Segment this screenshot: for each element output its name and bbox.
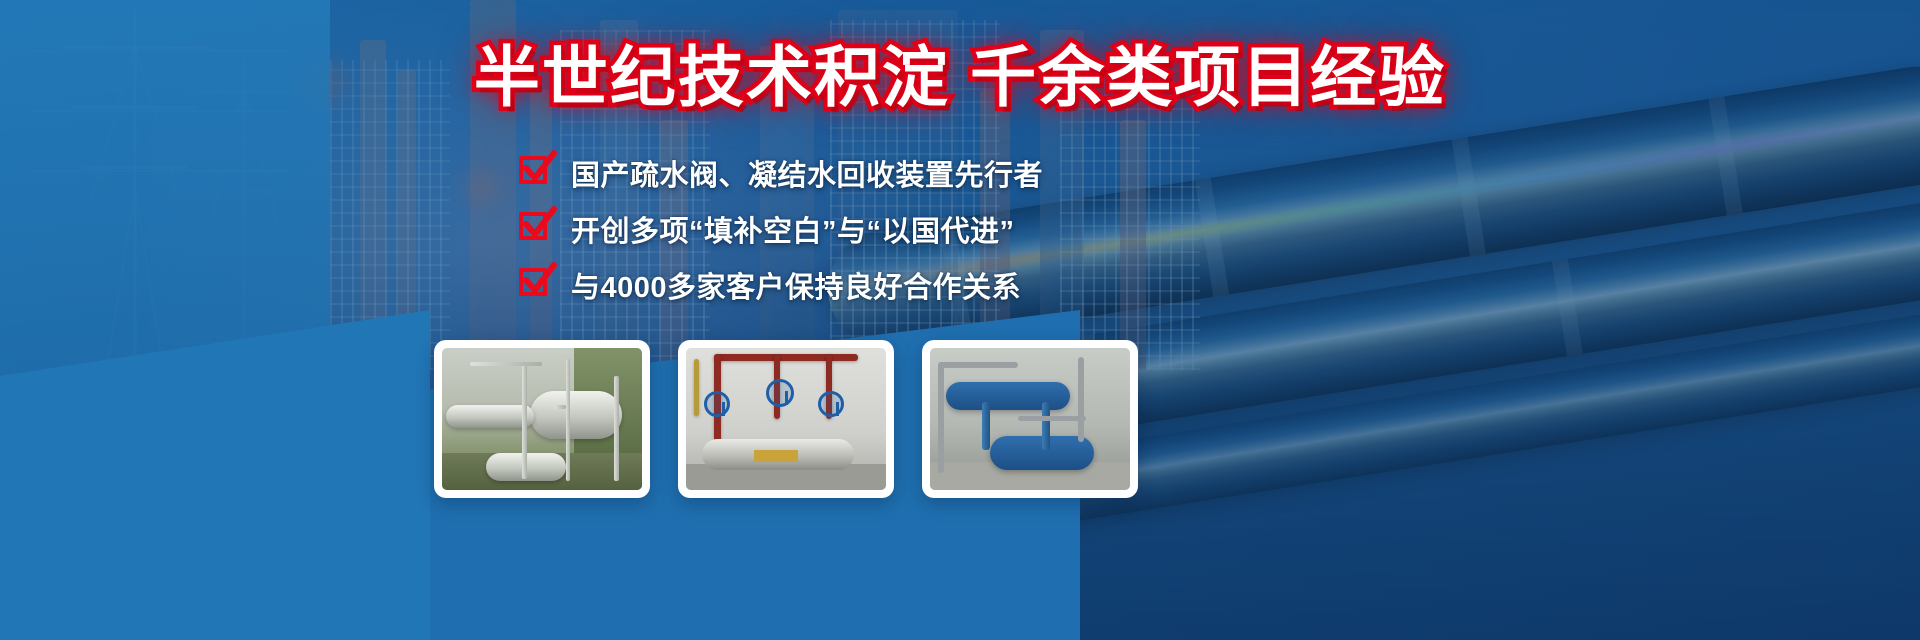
product-photo-card[interactable] [922,340,1138,498]
banner-content: 半世纪技术积淀 千余类项目经验 国产疏水阀、凝结水回收装置先行者 [0,0,1920,640]
product-photo-image [442,348,642,490]
banner-headline: 半世纪技术积淀 千余类项目经验 [0,42,1920,113]
product-photo-image [930,348,1130,490]
product-photo-image [686,348,886,490]
feature-bullet-item: 开创多项“填补空白”与“以国代进” [519,208,1043,250]
product-photo-card[interactable] [434,340,650,498]
feature-bullet-text: 国产疏水阀、凝结水回收装置先行者 [571,152,1043,194]
checkbox-check-icon [519,268,553,302]
feature-bullet-item: 国产疏水阀、凝结水回收装置先行者 [519,152,1043,194]
feature-bullet-item: 与4000多家客户保持良好合作关系 [519,264,1043,306]
product-photo-card-list [434,340,1138,498]
product-photo-card[interactable] [678,340,894,498]
promo-banner: 半世纪技术积淀 千余类项目经验 国产疏水阀、凝结水回收装置先行者 [0,0,1920,640]
feature-bullet-list: 国产疏水阀、凝结水回收装置先行者 开创多项“填补空白”与“以国代进” [519,152,1043,306]
checkbox-check-icon [519,156,553,190]
checkbox-check-icon [519,212,553,246]
feature-bullet-text: 开创多项“填补空白”与“以国代进” [571,208,1015,250]
feature-bullet-text: 与4000多家客户保持良好合作关系 [571,264,1021,306]
